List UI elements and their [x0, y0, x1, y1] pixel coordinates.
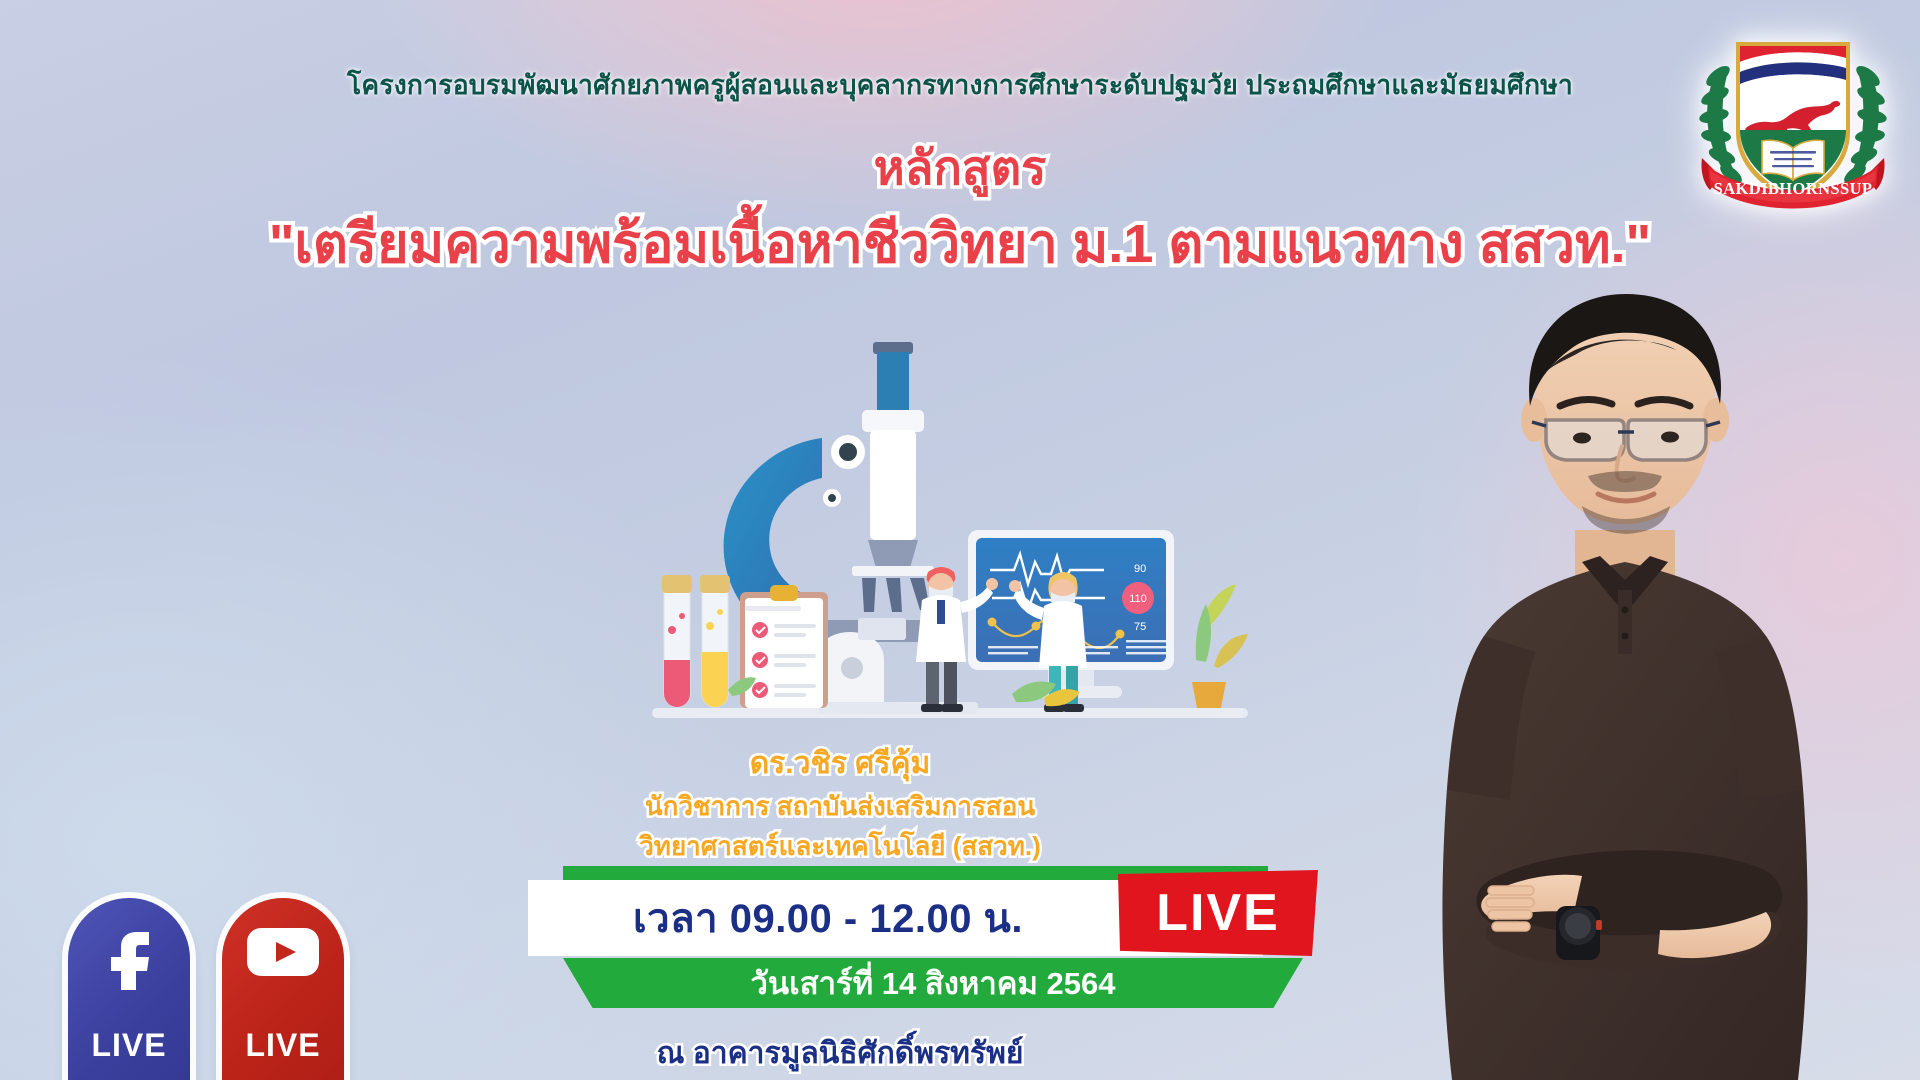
date-text: วันเสาร์ที่ 14 สิงหาคม 2564 [751, 958, 1116, 1008]
facebook-live-badge[interactable]: LIVE [68, 898, 190, 1080]
plant-decoration-right [1192, 584, 1248, 708]
facebook-icon [103, 924, 155, 995]
test-tube-yellow [700, 575, 730, 707]
wristwatch [1556, 906, 1602, 960]
venue-text: ณ อาคารมูลนิธิศักดิ์พรทรัพย์ [430, 1030, 1250, 1077]
monitor-value-bottom: 75 [1134, 621, 1146, 633]
live-badge-label: LIVE [1156, 887, 1280, 939]
science-lab-illustration: 90 110 75 [640, 330, 1260, 730]
speaker-portrait-photo [1360, 280, 1890, 1080]
course-label: หลักสูตร [0, 130, 1920, 205]
organization-header-line: โครงการอบรมพัฒนาศักยภาพครูผู้สอนและบุคลา… [0, 64, 1920, 106]
live-badge-flag: LIVE [1118, 870, 1318, 956]
time-text: เวลา 09.00 - 12.00 น. [528, 880, 1128, 956]
youtube-live-label: LIVE [245, 1027, 320, 1064]
test-tube-pink [662, 575, 692, 707]
monitor-value-top: 90 [1134, 563, 1146, 575]
course-title: "เตรียมความพร้อมเนื้อหาชีววิทยา ม.1 ตามแ… [0, 200, 1920, 286]
youtube-icon [245, 924, 321, 985]
speaker-role-line-1: นักวิชาการ สถาบันส่งเสริมการสอน [430, 786, 1250, 827]
speaker-role-line-2: วิทยาศาสตร์และเทคโนโลยี (สสวท.) [430, 826, 1250, 867]
date-banner: วันเสาร์ที่ 14 สิงหาคม 2564 [563, 958, 1303, 1008]
youtube-live-badge[interactable]: LIVE [222, 898, 344, 1080]
clipboard-checklist-icon [740, 585, 828, 708]
monitor-value-circle: 110 [1129, 593, 1147, 605]
facebook-live-label: LIVE [91, 1027, 166, 1064]
event-poster: SAKDIBHORNSSUP โครงการอบรมพัฒนาศักยภาพคร… [0, 0, 1920, 1080]
speaker-name: ดร.วชิร ศรีคุ้ม [430, 740, 1250, 787]
